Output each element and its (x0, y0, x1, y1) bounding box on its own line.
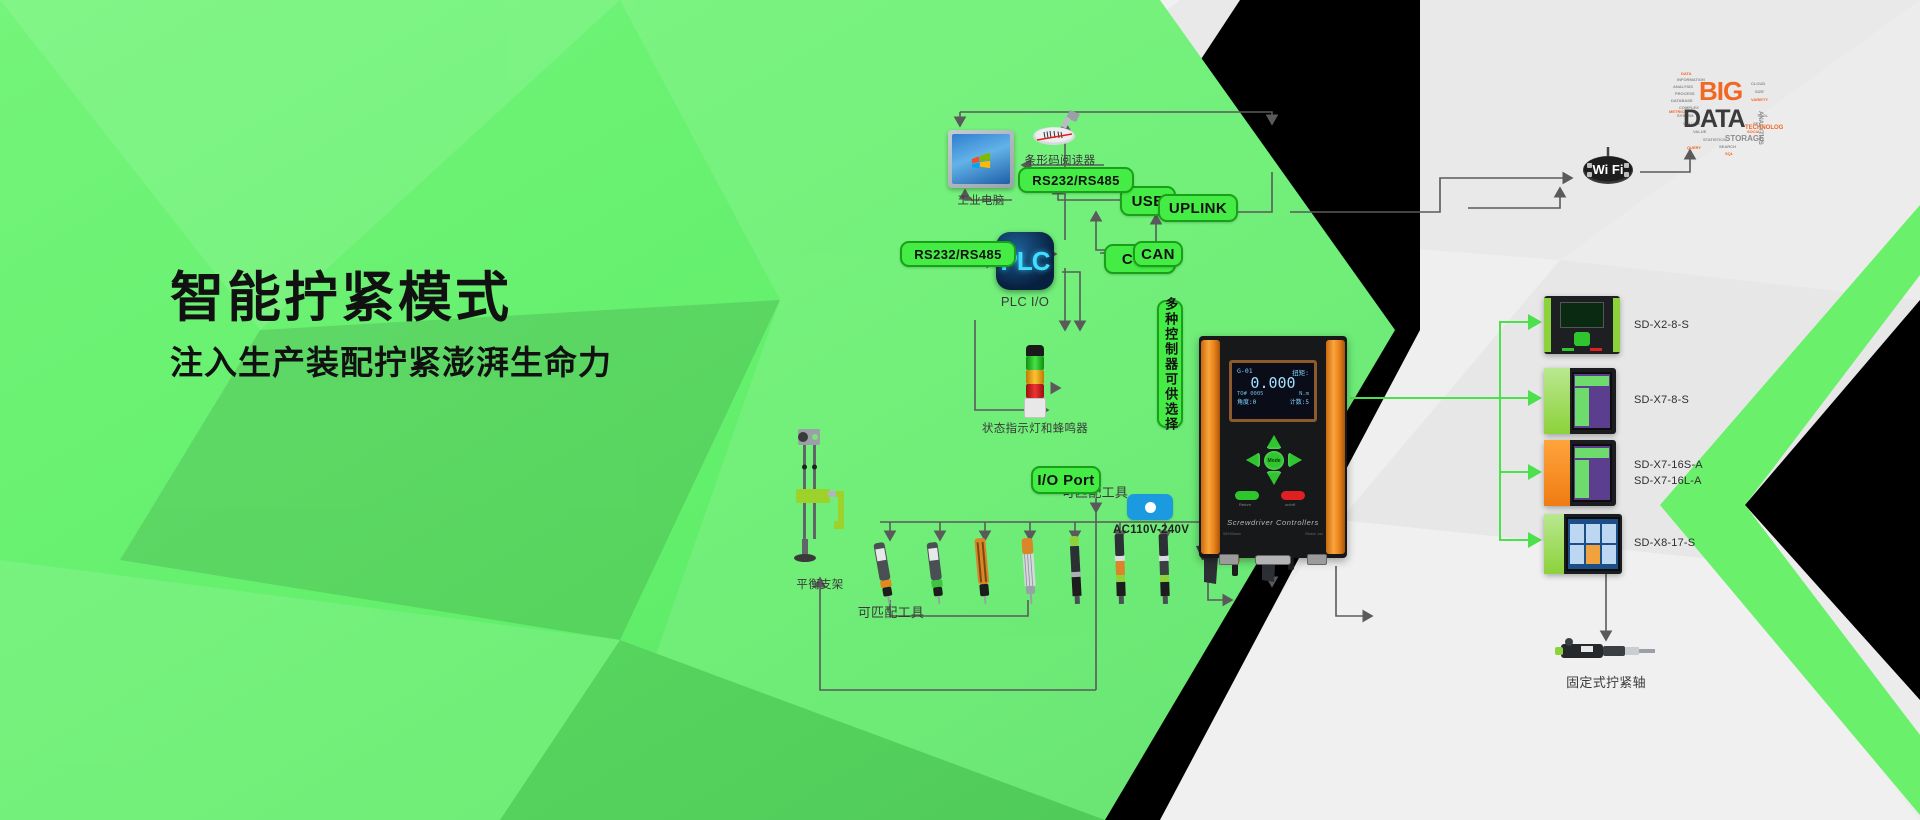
lamp-red (1026, 384, 1044, 398)
controller-power-label: on/off (1285, 502, 1295, 507)
svg-text:ANALYTICS: ANALYTICS (1757, 111, 1763, 145)
svg-text:SIZE: SIZE (1755, 89, 1764, 94)
tool-screwdriver-7 (1145, 531, 1181, 604)
controller-port-right (1307, 554, 1327, 565)
fixed-spindle-icon (1553, 638, 1659, 664)
lamp-amber (1026, 370, 1044, 384)
svg-text:TECHNOLOGIES: TECHNOLOGIES (1745, 125, 1783, 131)
wifi-device: Wi Fi (1580, 145, 1636, 185)
big-data-wordcloud-icon: INFORMATIONANALYSIS PROCESSDATABASE COMP… (1663, 55, 1783, 160)
dpad-right-button[interactable] (1288, 452, 1302, 468)
banner-stage: 智能拧紧模式 注入生产装配拧紧澎湃生命力 (0, 0, 1920, 820)
windows-logo-icon (970, 149, 992, 169)
controller-return-button[interactable] (1235, 491, 1259, 500)
lcd-value: 0.000 (1237, 376, 1309, 392)
svg-text:QUERY: QUERY (1687, 145, 1701, 150)
wifi-icon: Wi Fi (1580, 145, 1636, 185)
model-device-sd-x8-17-s (1544, 514, 1622, 574)
svg-text:Wi Fi: Wi Fi (1593, 162, 1624, 177)
label-balance-arm: 平衡支架 (780, 576, 860, 592)
barcode-reader-icon (1030, 108, 1086, 148)
status-light-device (1024, 345, 1046, 413)
label-industrial-pc: 工业电脑 (948, 192, 1014, 208)
tool-screwdriver-3 (962, 535, 1002, 606)
barcode-reader-device (1030, 108, 1086, 148)
pill-power[interactable] (1127, 494, 1173, 520)
pill-can[interactable]: CAN (1133, 241, 1183, 267)
model-label-3: SD-X7-16S-A SD-X7-16L-A (1634, 458, 1703, 490)
pill-ioport[interactable]: I/O Port (1031, 466, 1101, 494)
model-device-sd-x7-16-a (1544, 440, 1616, 506)
balance-arm-icon (790, 425, 852, 565)
buzzer-base (1024, 398, 1046, 418)
model-label-2: SD-X7-8-S (1634, 393, 1689, 409)
controller-model-code: 20xxxx .xxx (1305, 532, 1323, 536)
model-label-1: SD-X2-8-S (1634, 318, 1689, 334)
label-barcode-reader: 条形码阅读器 (1012, 152, 1108, 168)
tool-screwdriver-4 (1009, 535, 1048, 605)
lamp-green (1026, 356, 1044, 370)
lcd-tool-id: TO# 0005 (1237, 391, 1264, 397)
tool-screwdriver-6 (1101, 531, 1137, 604)
lamp-cap (1026, 345, 1044, 356)
svg-text:CLOUD: CLOUD (1751, 81, 1765, 86)
power-indicator-dot (1145, 502, 1156, 513)
page-title: 智能拧紧模式 (170, 268, 612, 328)
controller-dpad[interactable]: Mode (1246, 435, 1302, 485)
fixed-spindle-device (1553, 638, 1659, 664)
big-data-graphic: INFORMATIONANALYSIS PROCESSDATABASE COMP… (1663, 55, 1783, 160)
controller-serial: S/N:00xxxx (1223, 532, 1241, 536)
label-status-light: 状态指示灯和蜂鸣器 (965, 420, 1105, 436)
hero-text-block: 智能拧紧模式 注入生产装配拧紧澎湃生命力 (170, 268, 612, 384)
pill-uplink[interactable]: UPLINK (1158, 194, 1238, 222)
pc-screen (952, 134, 1010, 184)
svg-text:PROCESS: PROCESS (1675, 91, 1695, 96)
svg-text:DATA: DATA (1681, 71, 1692, 76)
controller-port-left (1219, 554, 1239, 565)
label-tools-bottom: 可匹配工具 (836, 602, 946, 621)
controller-lcd-screen: G-01 扭矩: 0.000 TO# 0005 N.m 角度:0 计数:5 (1229, 360, 1317, 422)
dpad-mode-button[interactable]: Mode (1264, 451, 1284, 470)
screwdriver-controller-device: G-01 扭矩: 0.000 TO# 0005 N.m 角度:0 计数:5 (1199, 336, 1347, 558)
dpad-left-button[interactable] (1246, 452, 1260, 468)
pill-options[interactable]: 多种控制器可供选择 (1157, 300, 1183, 428)
svg-text:DATABASE: DATABASE (1671, 98, 1693, 103)
page-subtitle: 注入生产装配拧紧澎湃生命力 (170, 336, 612, 384)
label-power: AC110V-240V (1113, 524, 1189, 536)
svg-text:ANALYSIS: ANALYSIS (1673, 84, 1693, 89)
controller-return-label: Return (1239, 502, 1251, 507)
tool-screwdriver-5 (1056, 533, 1094, 605)
svg-text:STATISTICS: STATISTICS (1703, 137, 1726, 142)
label-fixed-spindle: 固定式拧紧轴 (1546, 672, 1666, 691)
label-plc-io: PLC I/O (996, 294, 1054, 309)
balance-arm-device (790, 425, 852, 565)
svg-text:VARIETY: VARIETY (1751, 97, 1768, 102)
model-device-sd-x7-8-s (1544, 368, 1616, 434)
lcd-count: 计数:5 (1290, 397, 1309, 406)
dpad-up-button[interactable] (1266, 435, 1282, 449)
controller-brand-text: Screwdriver Controllers (1199, 518, 1347, 527)
industrial-pc-monitor (948, 130, 1014, 188)
model-device-sd-x2-8-s (1544, 296, 1620, 354)
svg-text:BIG: BIG (1699, 76, 1742, 106)
svg-text:SEARCH: SEARCH (1719, 144, 1736, 149)
svg-text:SQL: SQL (1725, 151, 1734, 156)
pill-rs232-top[interactable]: RS232/RS485 (1018, 167, 1134, 193)
controller-port-center (1255, 555, 1291, 565)
lcd-unit: N.m (1299, 391, 1309, 397)
model-label-4: SD-X8-17-S (1634, 536, 1695, 552)
pill-rs232-mid[interactable]: RS232/RS485 (900, 241, 1016, 267)
lcd-angle: 角度:0 (1237, 397, 1256, 406)
svg-text:DATA: DATA (1683, 105, 1746, 133)
dpad-down-button[interactable] (1266, 471, 1282, 485)
controller-power-button[interactable] (1281, 491, 1305, 500)
system-diagram: 工业电脑 条形码阅读器 Wi Fi (0, 0, 1920, 820)
connector-lines (0, 0, 1920, 820)
